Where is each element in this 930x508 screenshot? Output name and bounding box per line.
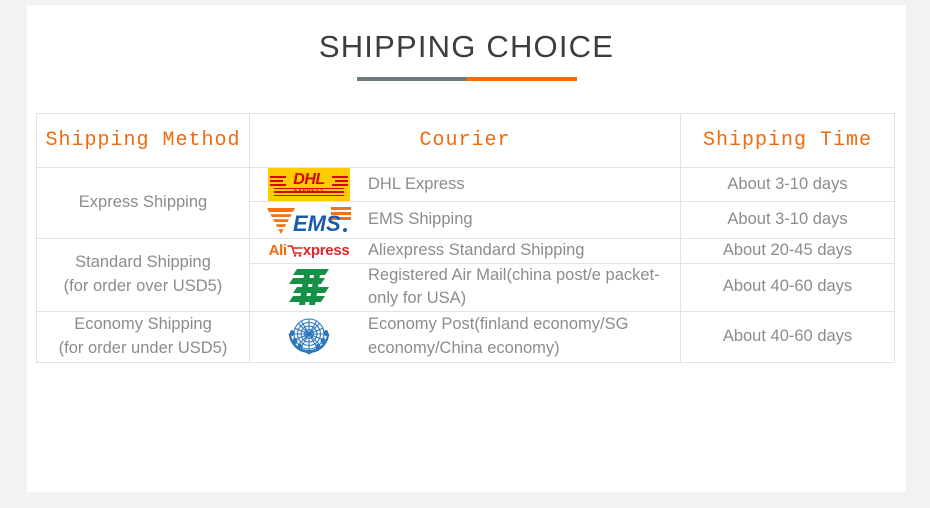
courier-label: EMS Shipping (368, 208, 481, 231)
table-header-row: Shipping Method Courier Shipping Time (37, 114, 895, 168)
dhl-logo-box: DHL EXPRESS (250, 168, 368, 201)
courier-label: Registered Air Mail(china post/e packet-… (368, 264, 680, 311)
aliexpress-logo-suffix: xpress (303, 242, 350, 259)
un-emblem-logo (283, 312, 335, 362)
china-post-logo (285, 265, 333, 309)
column-header-shipping-time: Shipping Time (681, 114, 895, 168)
aliexpress-logo: Ali xpress (269, 242, 350, 259)
dhl-logo-text: DHL (268, 172, 350, 188)
time-cell: About 40-60 days (681, 311, 895, 362)
shipping-table: Shipping Method Courier Shipping Time Ex… (36, 113, 895, 363)
table-row: Standard Shipping (for order over USD5) … (37, 239, 895, 264)
shopping-cart-icon (287, 243, 303, 258)
courier-cell-ems: EMS EMS Shipping (250, 202, 681, 239)
courier-label: Economy Post(finland economy/SG economy/… (368, 313, 680, 360)
courier-cell-aliexpress: Ali xpress Aliexpress Standard Shi (250, 239, 681, 264)
column-header-courier: Courier (250, 114, 681, 168)
time-cell: About 40-60 days (681, 263, 895, 311)
title-underline-left (357, 77, 467, 81)
title-block: SHIPPING CHOICE (27, 5, 906, 81)
un-logo-box (250, 312, 368, 362)
method-label-line2: (for order under USD5) (37, 337, 249, 361)
courier-label: DHL Express (368, 173, 473, 196)
table-row: Express Shipping DHL EXPRESS (37, 168, 895, 202)
svg-text:EMS: EMS (293, 211, 341, 236)
courier-cell-dhl: DHL EXPRESS DHL Express (250, 168, 681, 202)
time-cell: About 20-45 days (681, 239, 895, 264)
dhl-logo: DHL EXPRESS (268, 168, 350, 201)
method-label-line1: Economy Shipping (37, 313, 249, 337)
courier-label: Aliexpress Standard Shipping (368, 239, 592, 262)
method-label-line2: (for order over USD5) (37, 275, 249, 299)
table-row: Economy Shipping (for order under USD5) (37, 311, 895, 362)
method-label-line1: Standard Shipping (37, 251, 249, 275)
method-label-line1: Express Shipping (37, 191, 249, 215)
time-cell: About 3-10 days (681, 168, 895, 202)
shipping-choice-card: SHIPPING CHOICE Shipping Method Courier … (27, 5, 906, 492)
column-header-shipping-method: Shipping Method (37, 114, 250, 168)
time-cell: About 3-10 days (681, 202, 895, 239)
china-post-logo-box (250, 265, 368, 309)
method-cell-standard: Standard Shipping (for order over USD5) (37, 239, 250, 312)
title-underline-right (467, 77, 577, 81)
method-cell-express: Express Shipping (37, 168, 250, 239)
page-title: SHIPPING CHOICE (27, 30, 906, 64)
aliexpress-logo-box: Ali xpress (250, 242, 368, 259)
courier-cell-economy-post: Economy Post(finland economy/SG economy/… (250, 311, 681, 362)
method-cell-economy: Economy Shipping (for order under USD5) (37, 311, 250, 362)
dhl-logo-subtitle: EXPRESS (268, 189, 350, 195)
aliexpress-logo-prefix: Ali (269, 242, 287, 259)
ems-logo: EMS (265, 202, 353, 238)
title-underline (357, 77, 577, 81)
ems-logo-box: EMS (250, 202, 368, 238)
courier-cell-china-post: Registered Air Mail(china post/e packet-… (250, 263, 681, 311)
